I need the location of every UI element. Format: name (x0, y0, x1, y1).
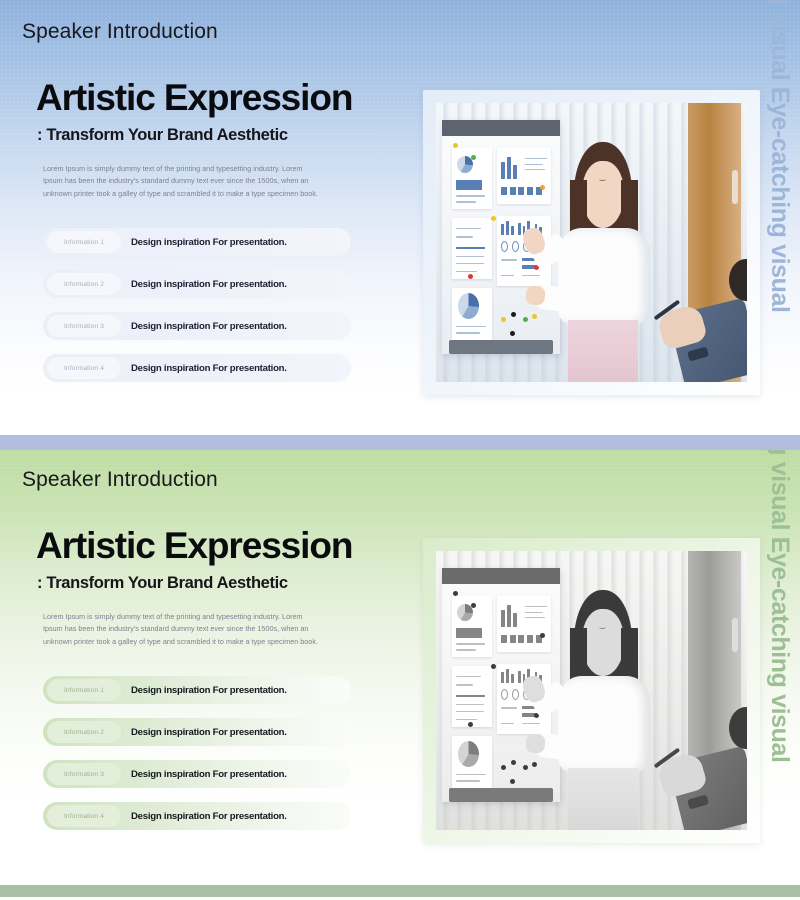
list-item-label: Design inspiration For presentation. (131, 811, 287, 822)
photo-magnet-pin (532, 314, 537, 319)
photo-board-clip (442, 568, 560, 584)
photo-magnet-pin (523, 765, 528, 770)
photo-bar-icon (527, 635, 533, 643)
list-item[interactable]: Information 1 Design inspiration For pre… (43, 676, 351, 704)
list-item-label: Design inspiration For presentation. (131, 769, 287, 780)
photo-presenter-hand-lower (526, 285, 546, 305)
photo-presenter-blouse (558, 228, 650, 324)
photo-magnet-pin (511, 312, 516, 317)
photo-presenter-skirt (568, 768, 638, 830)
photo-magnet-pin (501, 765, 506, 770)
photo-board-foot (449, 340, 553, 354)
photo-chart-sheet (452, 288, 492, 344)
photo-bar-icon (511, 674, 514, 683)
photo-text-line (456, 719, 477, 720)
photo-text-line (456, 332, 480, 333)
photo-donut-icon (501, 241, 508, 252)
list-item[interactable]: Information 3 Design inspiration For pre… (43, 312, 351, 340)
photo-bar-icon (456, 247, 485, 249)
photo-magnet-pin (471, 155, 476, 160)
photo-presenter-hand-lower (526, 733, 546, 753)
photo-text-line (522, 723, 540, 724)
photo-bar-icon (513, 165, 517, 180)
photo-text-line (456, 236, 474, 237)
slide-divider-bar (0, 435, 800, 450)
footer-accent-bar (0, 885, 800, 897)
photo-magnet-pin (510, 331, 515, 336)
photo-bar-icon (507, 605, 511, 627)
photo-text-line (456, 195, 484, 196)
list-item[interactable]: Information 2 Design inspiration For pre… (43, 270, 351, 298)
photo-text-line (501, 259, 517, 261)
list-item[interactable]: Information 3 Design inspiration For pre… (43, 760, 351, 788)
photo-donut-icon (512, 241, 519, 252)
photo-magnet-pin (501, 317, 506, 322)
photo-bar-icon (501, 162, 505, 179)
photo-text-line (456, 676, 481, 677)
photo-frame (423, 90, 760, 395)
photo-chart-sheet (452, 736, 492, 792)
vertical-marquee-text: hing visual Eye-catching visual (762, 0, 798, 434)
body-paragraph: Lorem Ipsum is simply dummy text of the … (43, 163, 321, 200)
photo-donut-icon (501, 689, 508, 700)
photo-text-line (456, 704, 484, 705)
list-item-tag: Information 3 (47, 315, 121, 337)
photo-bar-icon (510, 635, 516, 643)
page-title: Artistic Expression (36, 79, 352, 117)
list-item[interactable]: Information 4 Design inspiration For pre… (43, 354, 351, 382)
photo-bar-icon (456, 695, 485, 697)
eyebrow-speaker-introduction: Speaker Introduction (22, 20, 218, 44)
photo-bar-icon (518, 223, 521, 236)
list-item[interactable]: Information 2 Design inspiration For pre… (43, 718, 351, 746)
slide-blue: Speaker Introduction Artistic Expression… (0, 0, 800, 434)
photo-bar-icon (511, 226, 514, 235)
photo-presenter-face (582, 609, 624, 676)
photo-presenter-figure (554, 142, 654, 382)
photo-donut-icon (512, 689, 519, 700)
photo-magnet-pin (471, 603, 476, 608)
photo-bar-icon (507, 157, 511, 179)
eyebrow-speaker-introduction: Speaker Introduction (22, 468, 218, 492)
photo-board-foot (449, 788, 553, 802)
photo-presenter-smile (599, 178, 606, 181)
list-item[interactable]: Information 1 Design inspiration For pre… (43, 228, 351, 256)
photo-magnet-pin (511, 760, 516, 765)
photo-bar-icon (506, 669, 509, 683)
photo-text-line (525, 617, 546, 618)
photo-text-line (456, 228, 481, 229)
photo-presenter-blouse (558, 676, 650, 772)
photo-magnet-pin (491, 664, 496, 669)
list-item-tag: Information 2 (47, 721, 121, 743)
information-list: Information 1 Design inspiration For pre… (43, 676, 351, 844)
photo-text-line (501, 707, 517, 709)
photo-text-line (456, 774, 487, 775)
photo-door-handle (732, 618, 738, 652)
list-item-label: Design inspiration For presentation. (131, 685, 287, 696)
photo-text-line (501, 723, 514, 724)
photo-bar-icon (506, 221, 509, 235)
photo-bar-icon (501, 224, 504, 235)
photo-chart-sheet (452, 218, 492, 279)
photo-text-line (456, 649, 475, 650)
photo-bar-icon (501, 635, 507, 643)
list-item-tag: Information 1 (47, 231, 121, 253)
vertical-marquee-text: hing visual Eye-catching visual (762, 450, 798, 850)
photo-text-line (501, 275, 514, 276)
list-item-label: Design inspiration For presentation. (131, 321, 287, 332)
photo-board-clip (442, 120, 560, 136)
photo-text-line (456, 326, 487, 327)
photo-presenter-figure (554, 590, 654, 830)
photo-magnet-pin (491, 216, 496, 221)
list-item-tag: Information 4 (47, 805, 121, 827)
photo-chart-sheet (497, 148, 551, 204)
photo-text-line (456, 201, 475, 202)
page-subtitle: : Transform Your Brand Aesthetic (37, 126, 288, 145)
photo-text-line (525, 158, 547, 159)
list-item-tag: Information 3 (47, 763, 121, 785)
photo-bar-icon (456, 628, 482, 639)
photo-bar-icon (501, 610, 505, 627)
list-item-label: Design inspiration For presentation. (131, 363, 287, 374)
photo-bar-icon (513, 613, 517, 628)
photo-presenter-smile (599, 626, 606, 629)
list-item[interactable]: Information 4 Design inspiration For pre… (43, 802, 351, 830)
slide-deck-canvas: Speaker Introduction Artistic Expression… (0, 0, 800, 900)
photo-magnet-pin (532, 762, 537, 767)
photo-bar-icon (518, 635, 524, 643)
photo-pie-chart-icon (458, 293, 479, 319)
slide-green: Speaker Introduction Artistic Expression… (0, 450, 800, 850)
list-item-tag: Information 1 (47, 679, 121, 701)
photo-text-line (525, 612, 543, 613)
photo-text-line (456, 643, 484, 644)
list-item-tag: Information 2 (47, 273, 121, 295)
presenter-photo (436, 103, 747, 382)
photo-bar-icon (510, 187, 516, 195)
photo-presenter-skirt (568, 320, 638, 382)
photo-text-line (525, 164, 543, 165)
photo-bar-icon (456, 180, 482, 191)
photo-bar-icon (518, 187, 524, 195)
photo-text-line (456, 256, 484, 257)
photo-chart-sheet (497, 596, 551, 652)
photo-magnet-pin (523, 317, 528, 322)
list-item-label: Design inspiration For presentation. (131, 237, 287, 248)
photo-text-line (522, 275, 540, 276)
photo-bar-icon (501, 672, 504, 683)
page-subtitle: : Transform Your Brand Aesthetic (37, 574, 288, 593)
photo-text-line (525, 606, 547, 607)
photo-bar-icon (527, 187, 533, 195)
photo-magnet-pin (453, 591, 458, 596)
photo-chart-sheet (452, 666, 492, 727)
photo-pie-chart-icon (458, 741, 479, 767)
photo-bar-icon (501, 187, 507, 195)
list-item-label: Design inspiration For presentation. (131, 279, 287, 290)
photo-text-line (456, 780, 480, 781)
list-item-tag: Information 4 (47, 357, 121, 379)
photo-text-line (525, 169, 546, 170)
photo-colleague-figure (654, 724, 747, 830)
photo-colleague-figure (654, 276, 747, 382)
photo-text-line (456, 271, 477, 272)
photo-door-handle (732, 170, 738, 204)
body-paragraph: Lorem Ipsum is simply dummy text of the … (43, 611, 321, 648)
presenter-photo (436, 551, 747, 830)
photo-magnet-pin (453, 143, 458, 148)
information-list: Information 1 Design inspiration For pre… (43, 228, 351, 396)
photo-magnet-pin (510, 779, 515, 784)
list-item-label: Design inspiration For presentation. (131, 727, 287, 738)
photo-frame (423, 538, 760, 843)
photo-bar-icon (518, 671, 521, 684)
photo-text-line (456, 684, 474, 685)
page-title: Artistic Expression (36, 527, 352, 565)
photo-text-line (456, 711, 484, 712)
photo-presenter-face (582, 161, 624, 228)
photo-text-line (456, 263, 484, 264)
